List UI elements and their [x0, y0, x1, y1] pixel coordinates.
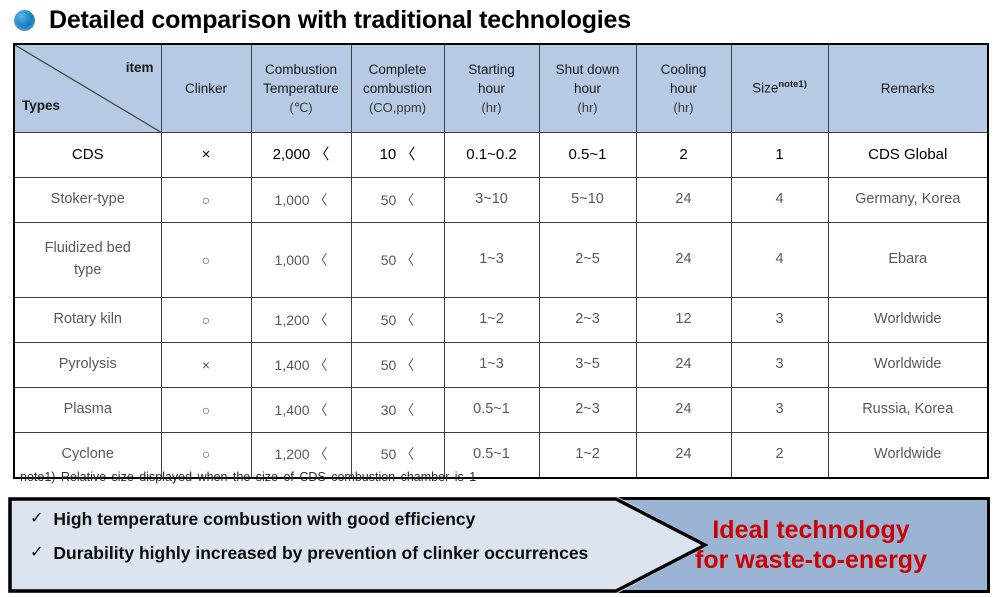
table-header: item Types Clinker Combustion Temperatur… [14, 44, 988, 133]
cell-clinker: ○ [161, 223, 251, 298]
cell-type: Stoker-type [14, 178, 161, 223]
page-title: Detailed comparison with traditional tec… [49, 6, 631, 35]
header-complete-combustion-line2: combustion [352, 79, 444, 99]
header-remarks-label: Remarks [881, 81, 935, 96]
cell-shut-down-hour: 1~2 [539, 433, 636, 478]
header-size-label: Size [752, 81, 778, 96]
banner-benefit-list: ✓ High temperature combustion with good … [30, 508, 610, 575]
header-clinker-label: Clinker [185, 81, 227, 96]
cell-clinker: ○ [161, 298, 251, 343]
banner-benefit-label: High temperature combustion with good ef… [53, 508, 475, 532]
header-starting-hour-line1: Starting [445, 60, 539, 80]
header-combustion-temperature-unit: (℃) [252, 99, 351, 118]
cell-remarks: Worldwide [828, 343, 988, 388]
cell-cooling-hour: 2 [636, 133, 731, 178]
check-mark-icon: ✓ [30, 508, 43, 530]
cell-cooling-hour: 12 [636, 298, 731, 343]
header-cooling-hour: Cooling hour (hr) [636, 44, 731, 133]
cell-complete-combustion: 50 〈 [351, 223, 444, 298]
header-complete-combustion-line1: Complete [352, 60, 444, 80]
cell-size: 2 [731, 433, 828, 478]
header-combustion-temperature-line1: Combustion [252, 60, 351, 80]
header-shut-down-hour: Shut down hour (hr) [539, 44, 636, 133]
filled-circle-icon [14, 10, 35, 31]
cell-size: 4 [731, 223, 828, 298]
header-cooling-hour-line2: hour [637, 79, 731, 99]
banner-conclusion-line2: for waste-to-energy [695, 545, 927, 576]
cell-shut-down-hour: 2~3 [539, 388, 636, 433]
cell-size: 1 [731, 133, 828, 178]
cell-combustion-temperature: 1,000 〈 [251, 178, 351, 223]
header-corner-cell: item Types [14, 44, 161, 133]
cell-type-line2: type [15, 260, 161, 282]
header-combustion-temperature: Combustion Temperature (℃) [251, 44, 351, 133]
cell-remarks: Worldwide [828, 298, 988, 343]
cell-cooling-hour: 24 [636, 343, 731, 388]
cell-clinker: ○ [161, 388, 251, 433]
header-size: Sizenote1) [731, 44, 828, 133]
cell-complete-combustion: 50 〈 [351, 298, 444, 343]
cell-combustion-temperature: 1,200 〈 [251, 298, 351, 343]
header-types-label: Types [22, 96, 60, 116]
cell-type: Fluidized bed type [14, 223, 161, 298]
banner-conclusion-line1: Ideal technology [695, 515, 927, 546]
cell-size: 3 [731, 388, 828, 433]
check-mark-icon: ✓ [30, 542, 43, 564]
header-cooling-hour-line1: Cooling [637, 60, 731, 80]
cell-complete-combustion: 30 〈 [351, 388, 444, 433]
cell-cooling-hour: 24 [636, 223, 731, 298]
table-row: CDS × 2,000 〈 10 〈 0.1~0.2 0.5~1 2 1 CDS… [14, 133, 988, 178]
cell-type: Plasma [14, 388, 161, 433]
cell-type: Rotary kiln [14, 298, 161, 343]
header-combustion-temperature-line2: Temperature [252, 79, 351, 99]
banner-conclusion-text: Ideal technology for waste-to-energy [695, 515, 927, 576]
cell-type: Pyrolysis [14, 343, 161, 388]
cell-type-line1: Fluidized bed [15, 238, 161, 260]
header-clinker: Clinker [161, 44, 251, 133]
header-shut-down-hour-line1: Shut down [540, 60, 636, 80]
cell-type: CDS [14, 133, 161, 178]
cell-starting-hour: 0.5~1 [444, 388, 539, 433]
cell-clinker: × [161, 133, 251, 178]
cell-clinker: × [161, 343, 251, 388]
cell-cooling-hour: 24 [636, 178, 731, 223]
table-body: CDS × 2,000 〈 10 〈 0.1~0.2 0.5~1 2 1 CDS… [14, 133, 988, 478]
cell-remarks: Germany, Korea [828, 178, 988, 223]
cell-starting-hour: 0.1~0.2 [444, 133, 539, 178]
header-remarks: Remarks [828, 44, 988, 133]
cell-starting-hour: 1~3 [444, 343, 539, 388]
cell-clinker: ○ [161, 178, 251, 223]
cell-starting-hour: 1~3 [444, 223, 539, 298]
cell-shut-down-hour: 2~3 [539, 298, 636, 343]
cell-starting-hour: 1~2 [444, 298, 539, 343]
header-complete-combustion-unit: (CO,ppm) [352, 99, 444, 118]
cell-size: 3 [731, 298, 828, 343]
comparison-table: item Types Clinker Combustion Temperatur… [13, 43, 989, 479]
cell-size: 3 [731, 343, 828, 388]
list-item: ✓ High temperature combustion with good … [30, 508, 610, 532]
cell-remarks: Ebara [828, 223, 988, 298]
header-complete-combustion: Complete combustion (CO,ppm) [351, 44, 444, 133]
cell-starting-hour: 3~10 [444, 178, 539, 223]
banner-benefit-label: Durability highly increased by preventio… [53, 542, 588, 566]
cell-shut-down-hour: 2~5 [539, 223, 636, 298]
cell-complete-combustion: 50 〈 [351, 343, 444, 388]
header-item-label: item [126, 58, 154, 78]
table-row: Pyrolysis × 1,400 〈 50 〈 1~3 3~5 24 3 Wo… [14, 343, 988, 388]
cell-size: 4 [731, 178, 828, 223]
cell-shut-down-hour: 3~5 [539, 343, 636, 388]
header-starting-hour-unit: (hr) [445, 99, 539, 118]
cell-remarks: Russia, Korea [828, 388, 988, 433]
header-size-footnote-marker: note1) [778, 79, 807, 90]
header-cooling-hour-unit: (hr) [637, 99, 731, 118]
cell-combustion-temperature: 1,400 〈 [251, 388, 351, 433]
summary-banner: Ideal technology for waste-to-energy ✓ H… [8, 497, 990, 593]
slide-title-row: Detailed comparison with traditional tec… [0, 0, 999, 40]
cell-cooling-hour: 24 [636, 388, 731, 433]
cell-remarks: CDS Global [828, 133, 988, 178]
table-row: Fluidized bed type ○ 1,000 〈 50 〈 1~3 2~… [14, 223, 988, 298]
header-shut-down-hour-line2: hour [540, 79, 636, 99]
header-starting-hour: Starting hour (hr) [444, 44, 539, 133]
cell-combustion-temperature: 1,400 〈 [251, 343, 351, 388]
list-item: ✓ Durability highly increased by prevent… [30, 542, 610, 566]
header-shut-down-hour-unit: (hr) [540, 99, 636, 118]
header-starting-hour-line2: hour [445, 79, 539, 99]
cell-remarks: Worldwide [828, 433, 988, 478]
table-footnote: note1) Relative size displayed when the … [20, 470, 476, 484]
cell-combustion-temperature: 2,000 〈 [251, 133, 351, 178]
table-row: Plasma ○ 1,400 〈 30 〈 0.5~1 2~3 24 3 Rus… [14, 388, 988, 433]
table-row: Rotary kiln ○ 1,200 〈 50 〈 1~2 2~3 12 3 … [14, 298, 988, 343]
table-header-row: item Types Clinker Combustion Temperatur… [14, 44, 988, 133]
cell-cooling-hour: 24 [636, 433, 731, 478]
cell-complete-combustion: 50 〈 [351, 178, 444, 223]
cell-shut-down-hour: 5~10 [539, 178, 636, 223]
cell-complete-combustion: 10 〈 [351, 133, 444, 178]
cell-shut-down-hour: 0.5~1 [539, 133, 636, 178]
table-row: Stoker-type ○ 1,000 〈 50 〈 3~10 5~10 24 … [14, 178, 988, 223]
cell-combustion-temperature: 1,000 〈 [251, 223, 351, 298]
